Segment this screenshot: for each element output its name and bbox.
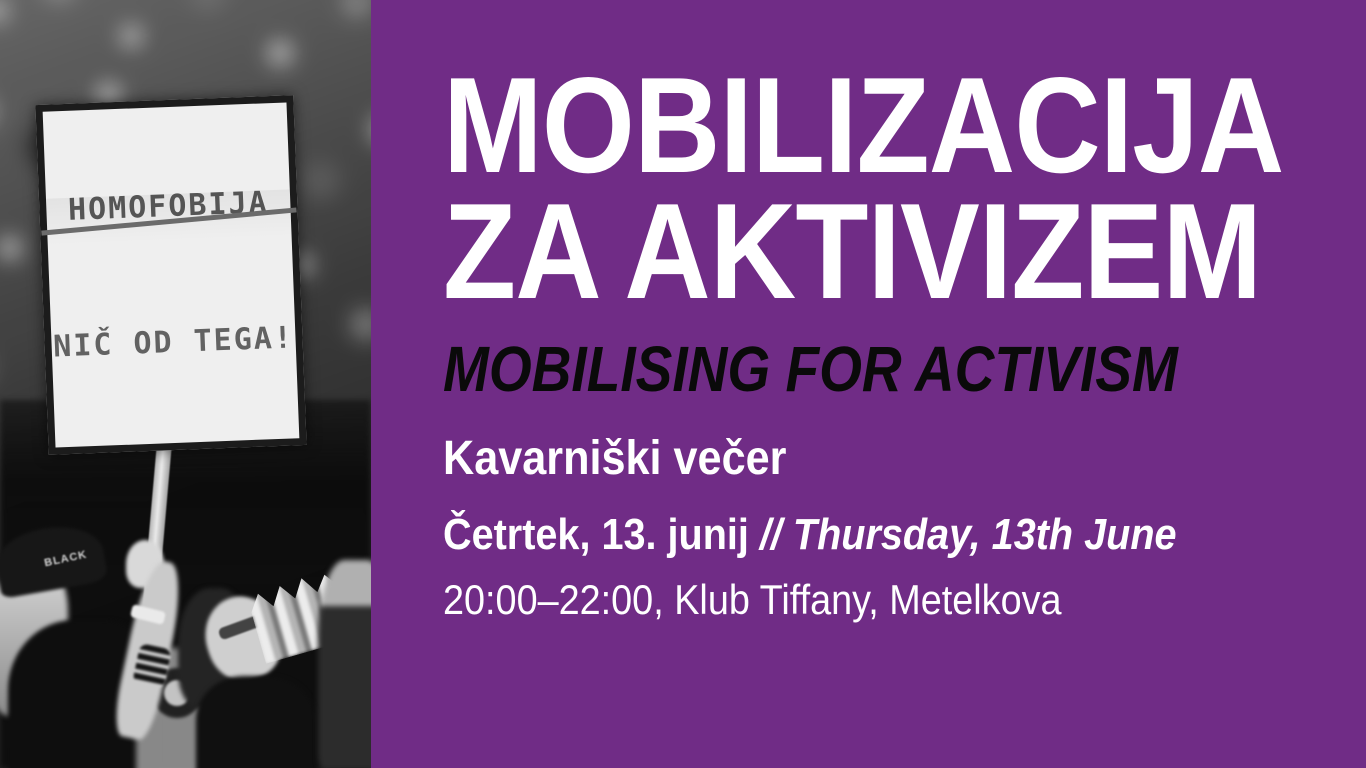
venue-line: 20:00–22:00, Klub Tiffany, Metelkova <box>443 579 1303 621</box>
headline-line-1: MOBILIZACIJA <box>443 62 1283 188</box>
date-slovenian: Četrtek, 13. junij <box>443 510 760 559</box>
poster-root: HOMOFOBIJA NIČ OD TEGA! BLACK MOBILIZACI… <box>0 0 1366 768</box>
protester-torso-center <box>196 676 316 768</box>
sign-board: HOMOFOBIJA NIČ OD TEGA! <box>35 95 306 455</box>
sign-text-nic-od-tega: NIČ OD TEGA! <box>51 320 296 364</box>
protest-photo: HOMOFOBIJA NIČ OD TEGA! BLACK <box>0 0 371 768</box>
date-line: Četrtek, 13. junij // Thursday, 13th Jun… <box>443 513 1303 557</box>
subtitle-english: MOBILISING FOR ACTIVISM <box>443 337 1264 401</box>
page-title: MOBILIZACIJA ZA AKTIVIZEM <box>443 62 1283 315</box>
content-panel: MOBILIZACIJA ZA AKTIVIZEM MOBILISING FOR… <box>371 0 1366 768</box>
event-type-label: Kavarniški večer <box>443 435 1303 483</box>
protest-sign: HOMOFOBIJA NIČ OD TEGA! <box>35 95 306 455</box>
protester-right <box>318 560 371 768</box>
date-english: // Thursday, 13th June <box>760 510 1177 559</box>
headline-line-2: ZA AKTIVIZEM <box>443 188 1283 314</box>
